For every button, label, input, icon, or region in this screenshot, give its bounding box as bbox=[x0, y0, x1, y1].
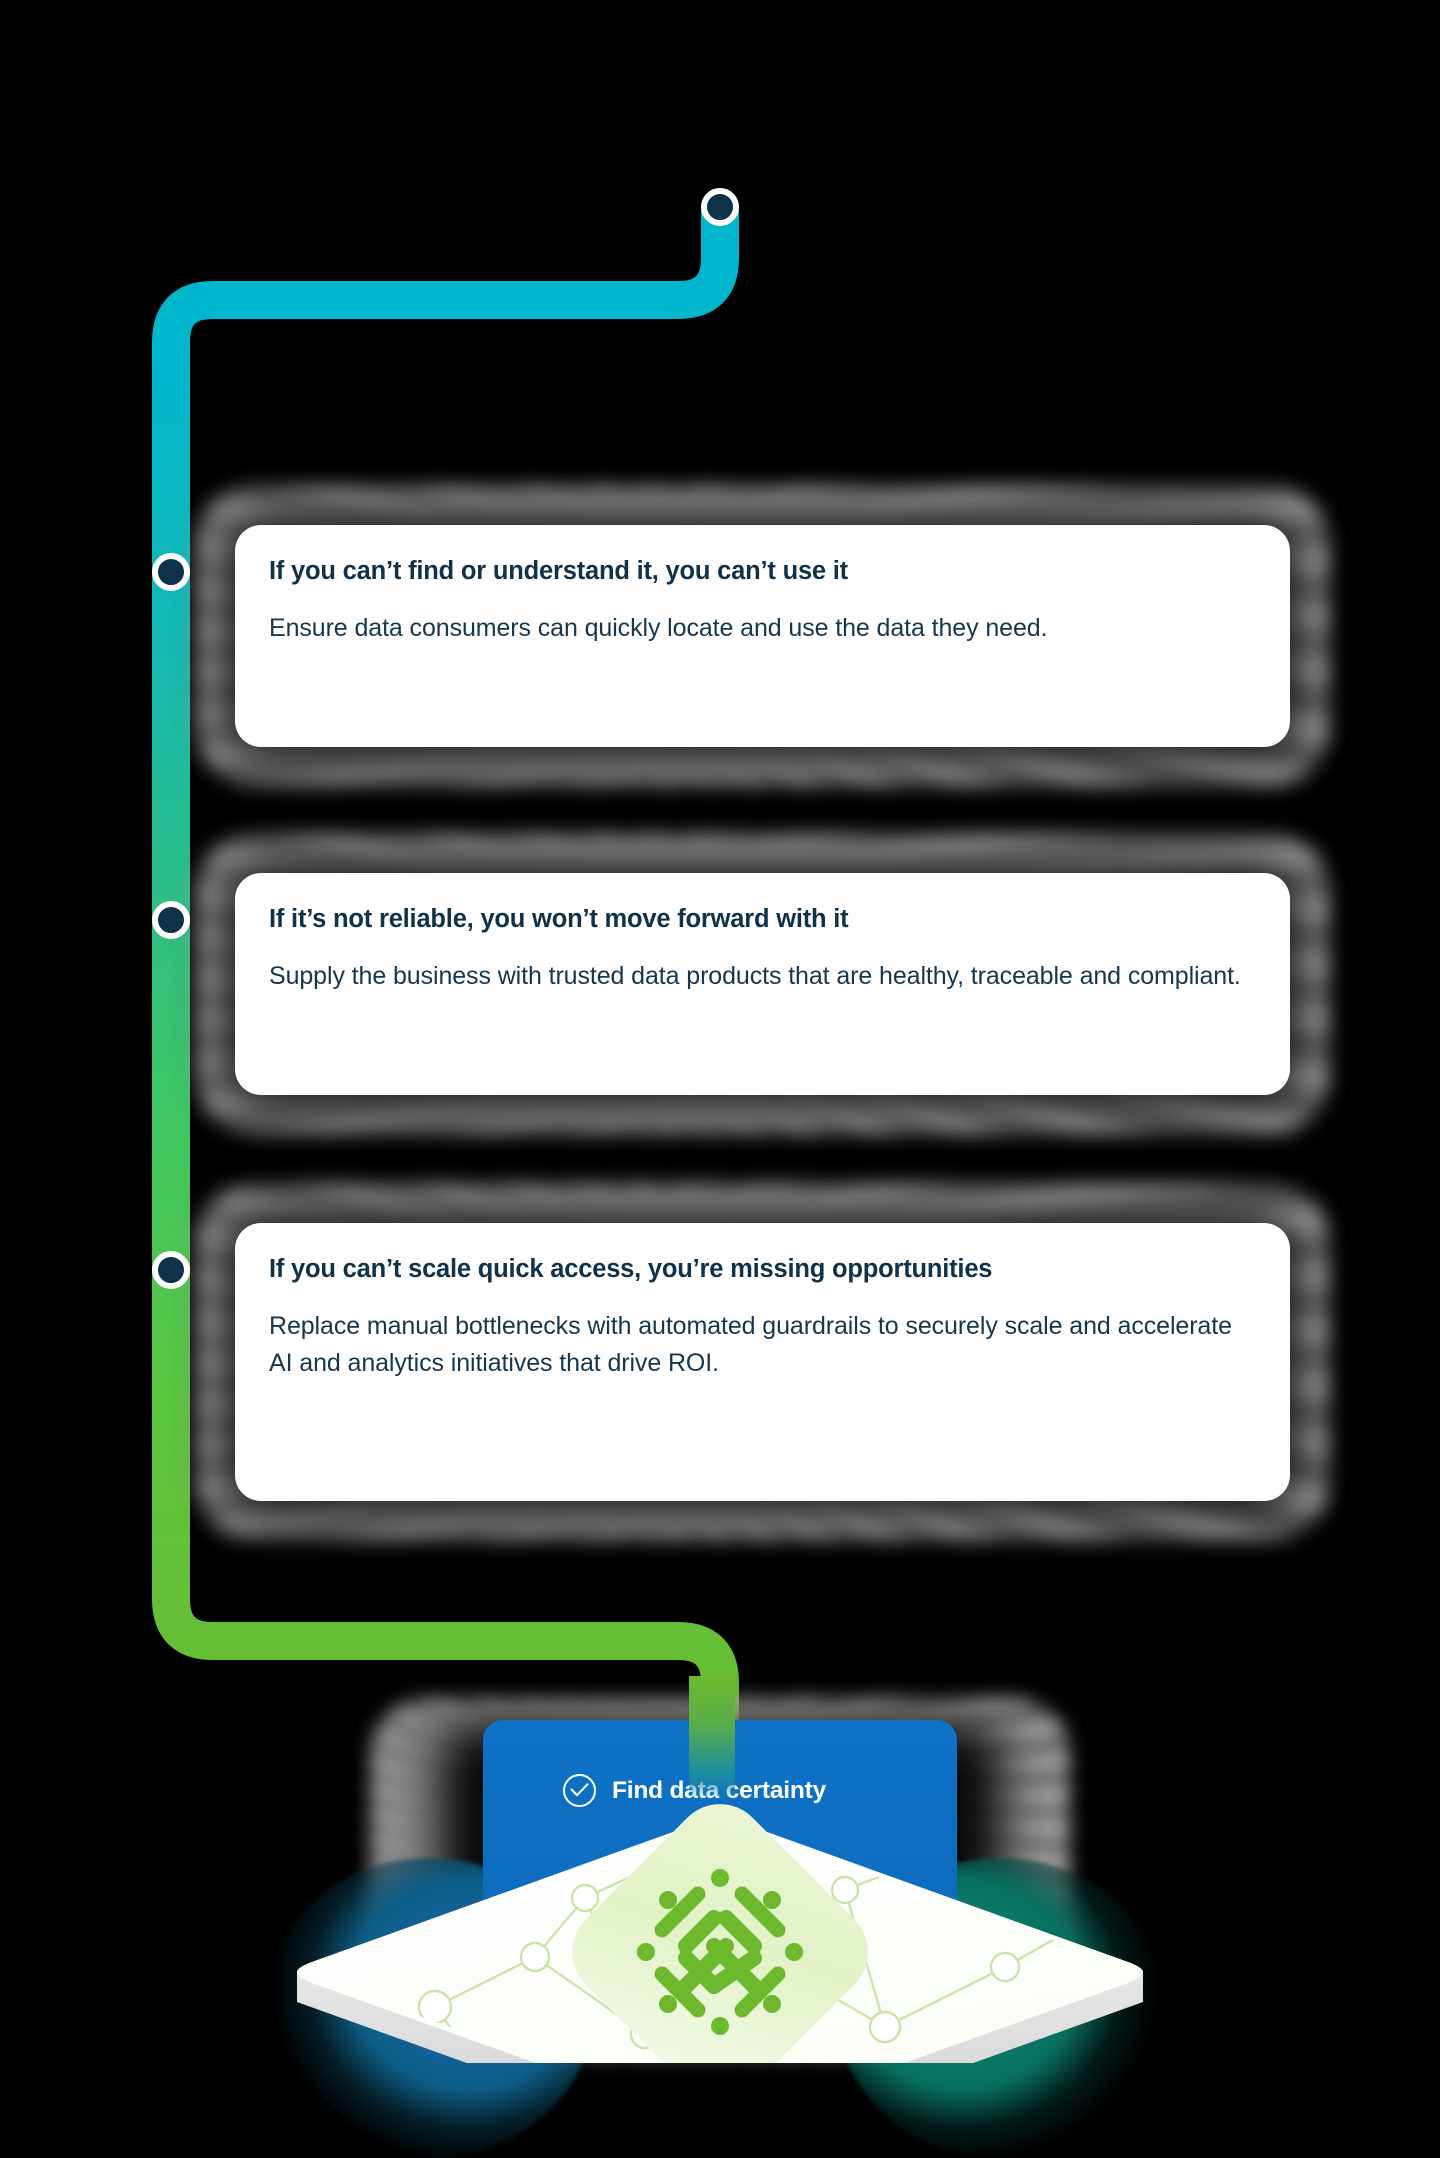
step-card-body: Ensure data consumers can quickly locate… bbox=[269, 610, 1256, 647]
isometric-data-platform bbox=[285, 1802, 1155, 2063]
step-card-title: If you can’t find or understand it, you … bbox=[269, 555, 1256, 588]
step-node-2 bbox=[152, 901, 190, 939]
step-card-3[interactable]: If you can’t scale quick access, you’re … bbox=[235, 1223, 1290, 1501]
step-card-body: Supply the business with trusted data pr… bbox=[269, 958, 1256, 995]
step-card-body: Replace manual bottlenecks with automate… bbox=[269, 1308, 1256, 1381]
illustration-stage: If you can’t find or understand it, you … bbox=[0, 0, 1440, 2063]
step-card-title: If you can’t scale quick access, you’re … bbox=[269, 1253, 1256, 1286]
journey-start-node bbox=[701, 188, 739, 226]
outcome-section: Find data certainty bbox=[0, 1676, 1440, 2063]
step-node-1 bbox=[152, 553, 190, 591]
step-card-title: If it’s not reliable, you won’t move for… bbox=[269, 903, 1256, 936]
step-node-3 bbox=[152, 1251, 190, 1289]
connector-ribbon-fade bbox=[689, 1676, 735, 1800]
step-card-2[interactable]: If it’s not reliable, you won’t move for… bbox=[235, 873, 1290, 1095]
step-card-1[interactable]: If you can’t find or understand it, you … bbox=[235, 525, 1290, 747]
